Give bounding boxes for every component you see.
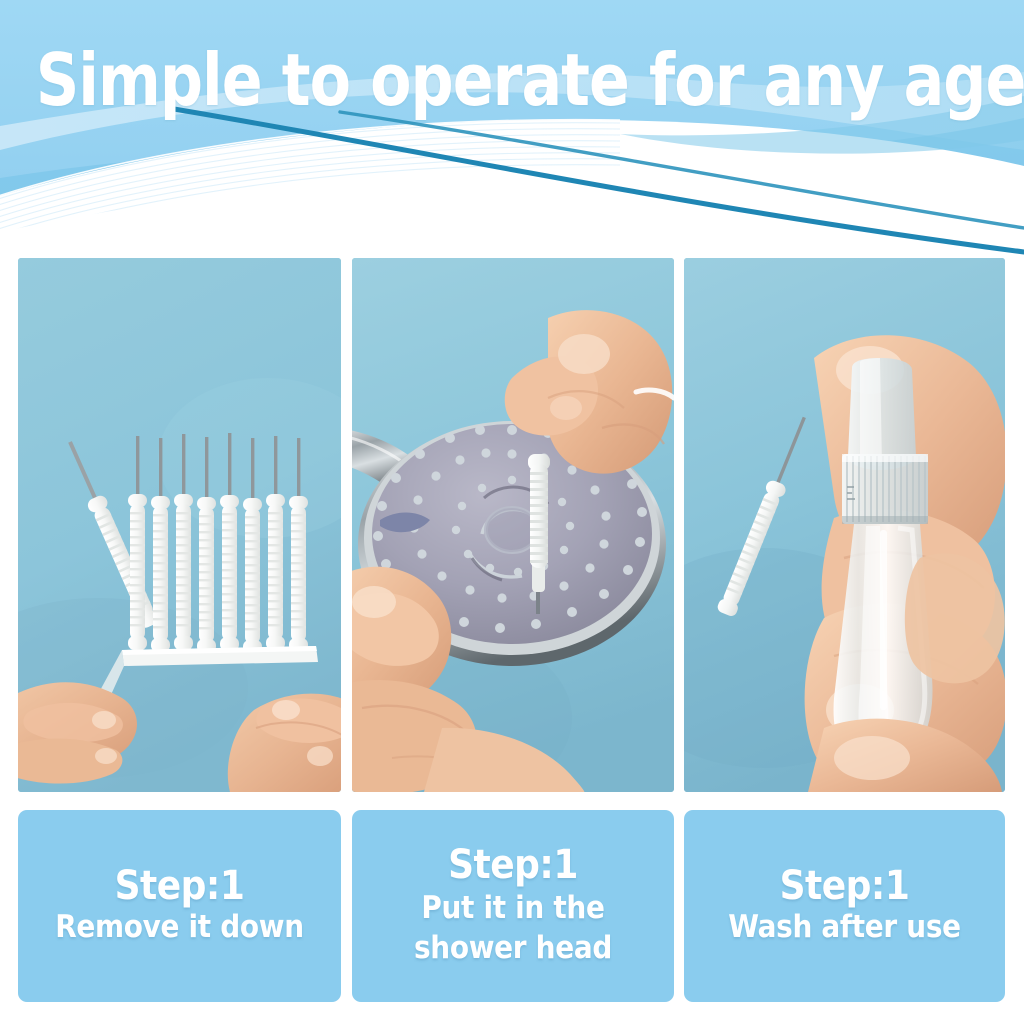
steps-photo-row	[0, 258, 1024, 794]
caption-2-description-line-2: shower head	[414, 929, 612, 969]
photo-insert-shower-head	[352, 258, 674, 792]
caption-card-2[interactable]: Step:1 Put it in the shower head	[352, 810, 674, 1002]
caption-1-description-line-1: Remove it down	[55, 908, 304, 948]
caption-2-description-line-1: Put it in the	[421, 889, 604, 929]
header-banner: Simple to operate for any age	[0, 0, 1024, 255]
panel-insert-shower-head[interactable]	[352, 258, 674, 792]
product-infographic: Simple to operate for any age	[0, 0, 1024, 1024]
photo-remove-brushes	[18, 258, 341, 792]
caption-1-step-label: Step:1	[115, 865, 245, 908]
caption-2-step-label: Step:1	[448, 844, 578, 887]
caption-card-3[interactable]: Step:1 Wash after use	[684, 810, 1005, 1002]
page-title: Simple to operate for any age	[36, 38, 988, 122]
caption-3-description-line-1: Wash after use	[728, 908, 961, 948]
panel-remove-brushes[interactable]	[18, 258, 341, 792]
caption-3-step-label: Step:1	[780, 865, 910, 908]
caption-card-1[interactable]: Step:1 Remove it down	[18, 810, 341, 1002]
steps-caption-row: Step:1 Remove it down Step:1 Put it in t…	[0, 810, 1024, 1005]
panel-wash-after-use[interactable]	[684, 258, 1005, 792]
photo-wash-after-use	[684, 258, 1005, 792]
